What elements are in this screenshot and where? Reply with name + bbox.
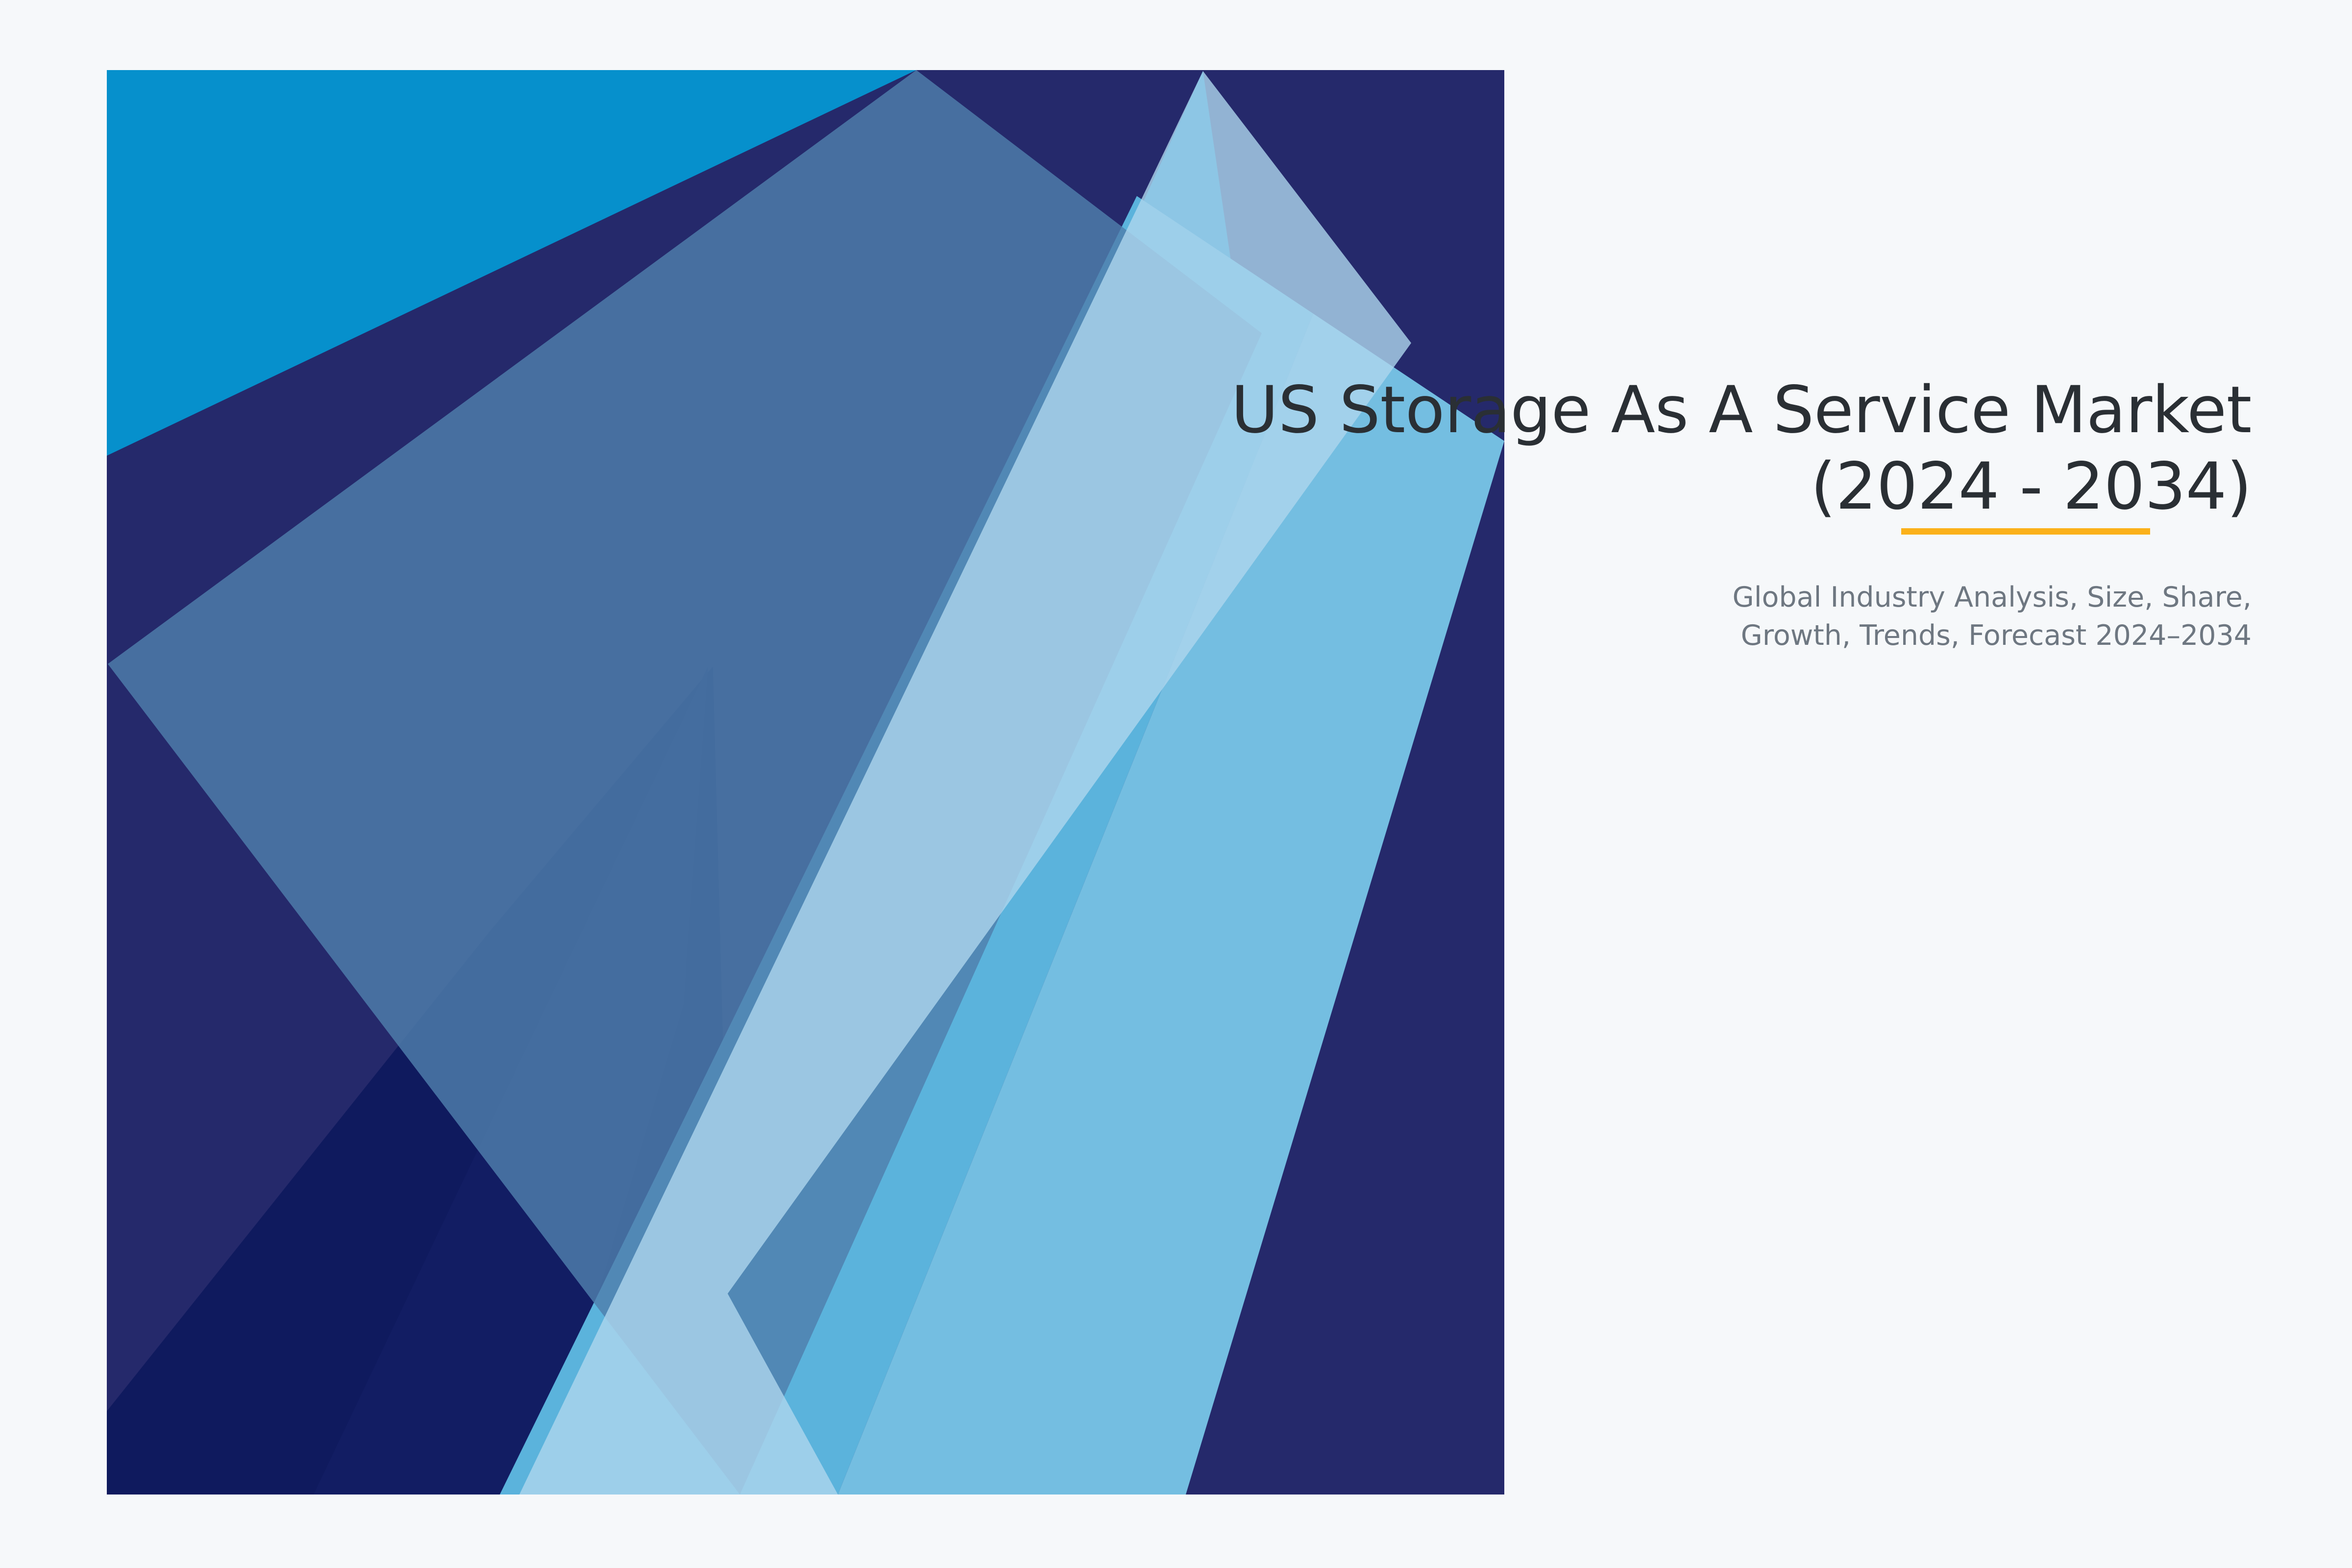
page-title: US Storage As A Service Market (2024 - 2… xyxy=(978,372,2252,525)
page-subtitle: Global Industry Analysis, Size, Share, G… xyxy=(978,525,2252,655)
poster-canvas: US Storage As A Service Market (2024 - 2… xyxy=(0,0,2352,1568)
title-block: US Storage As A Service Market (2024 - 2… xyxy=(978,372,2252,655)
abstract-geometric-cover-graphic xyxy=(0,0,2352,1568)
